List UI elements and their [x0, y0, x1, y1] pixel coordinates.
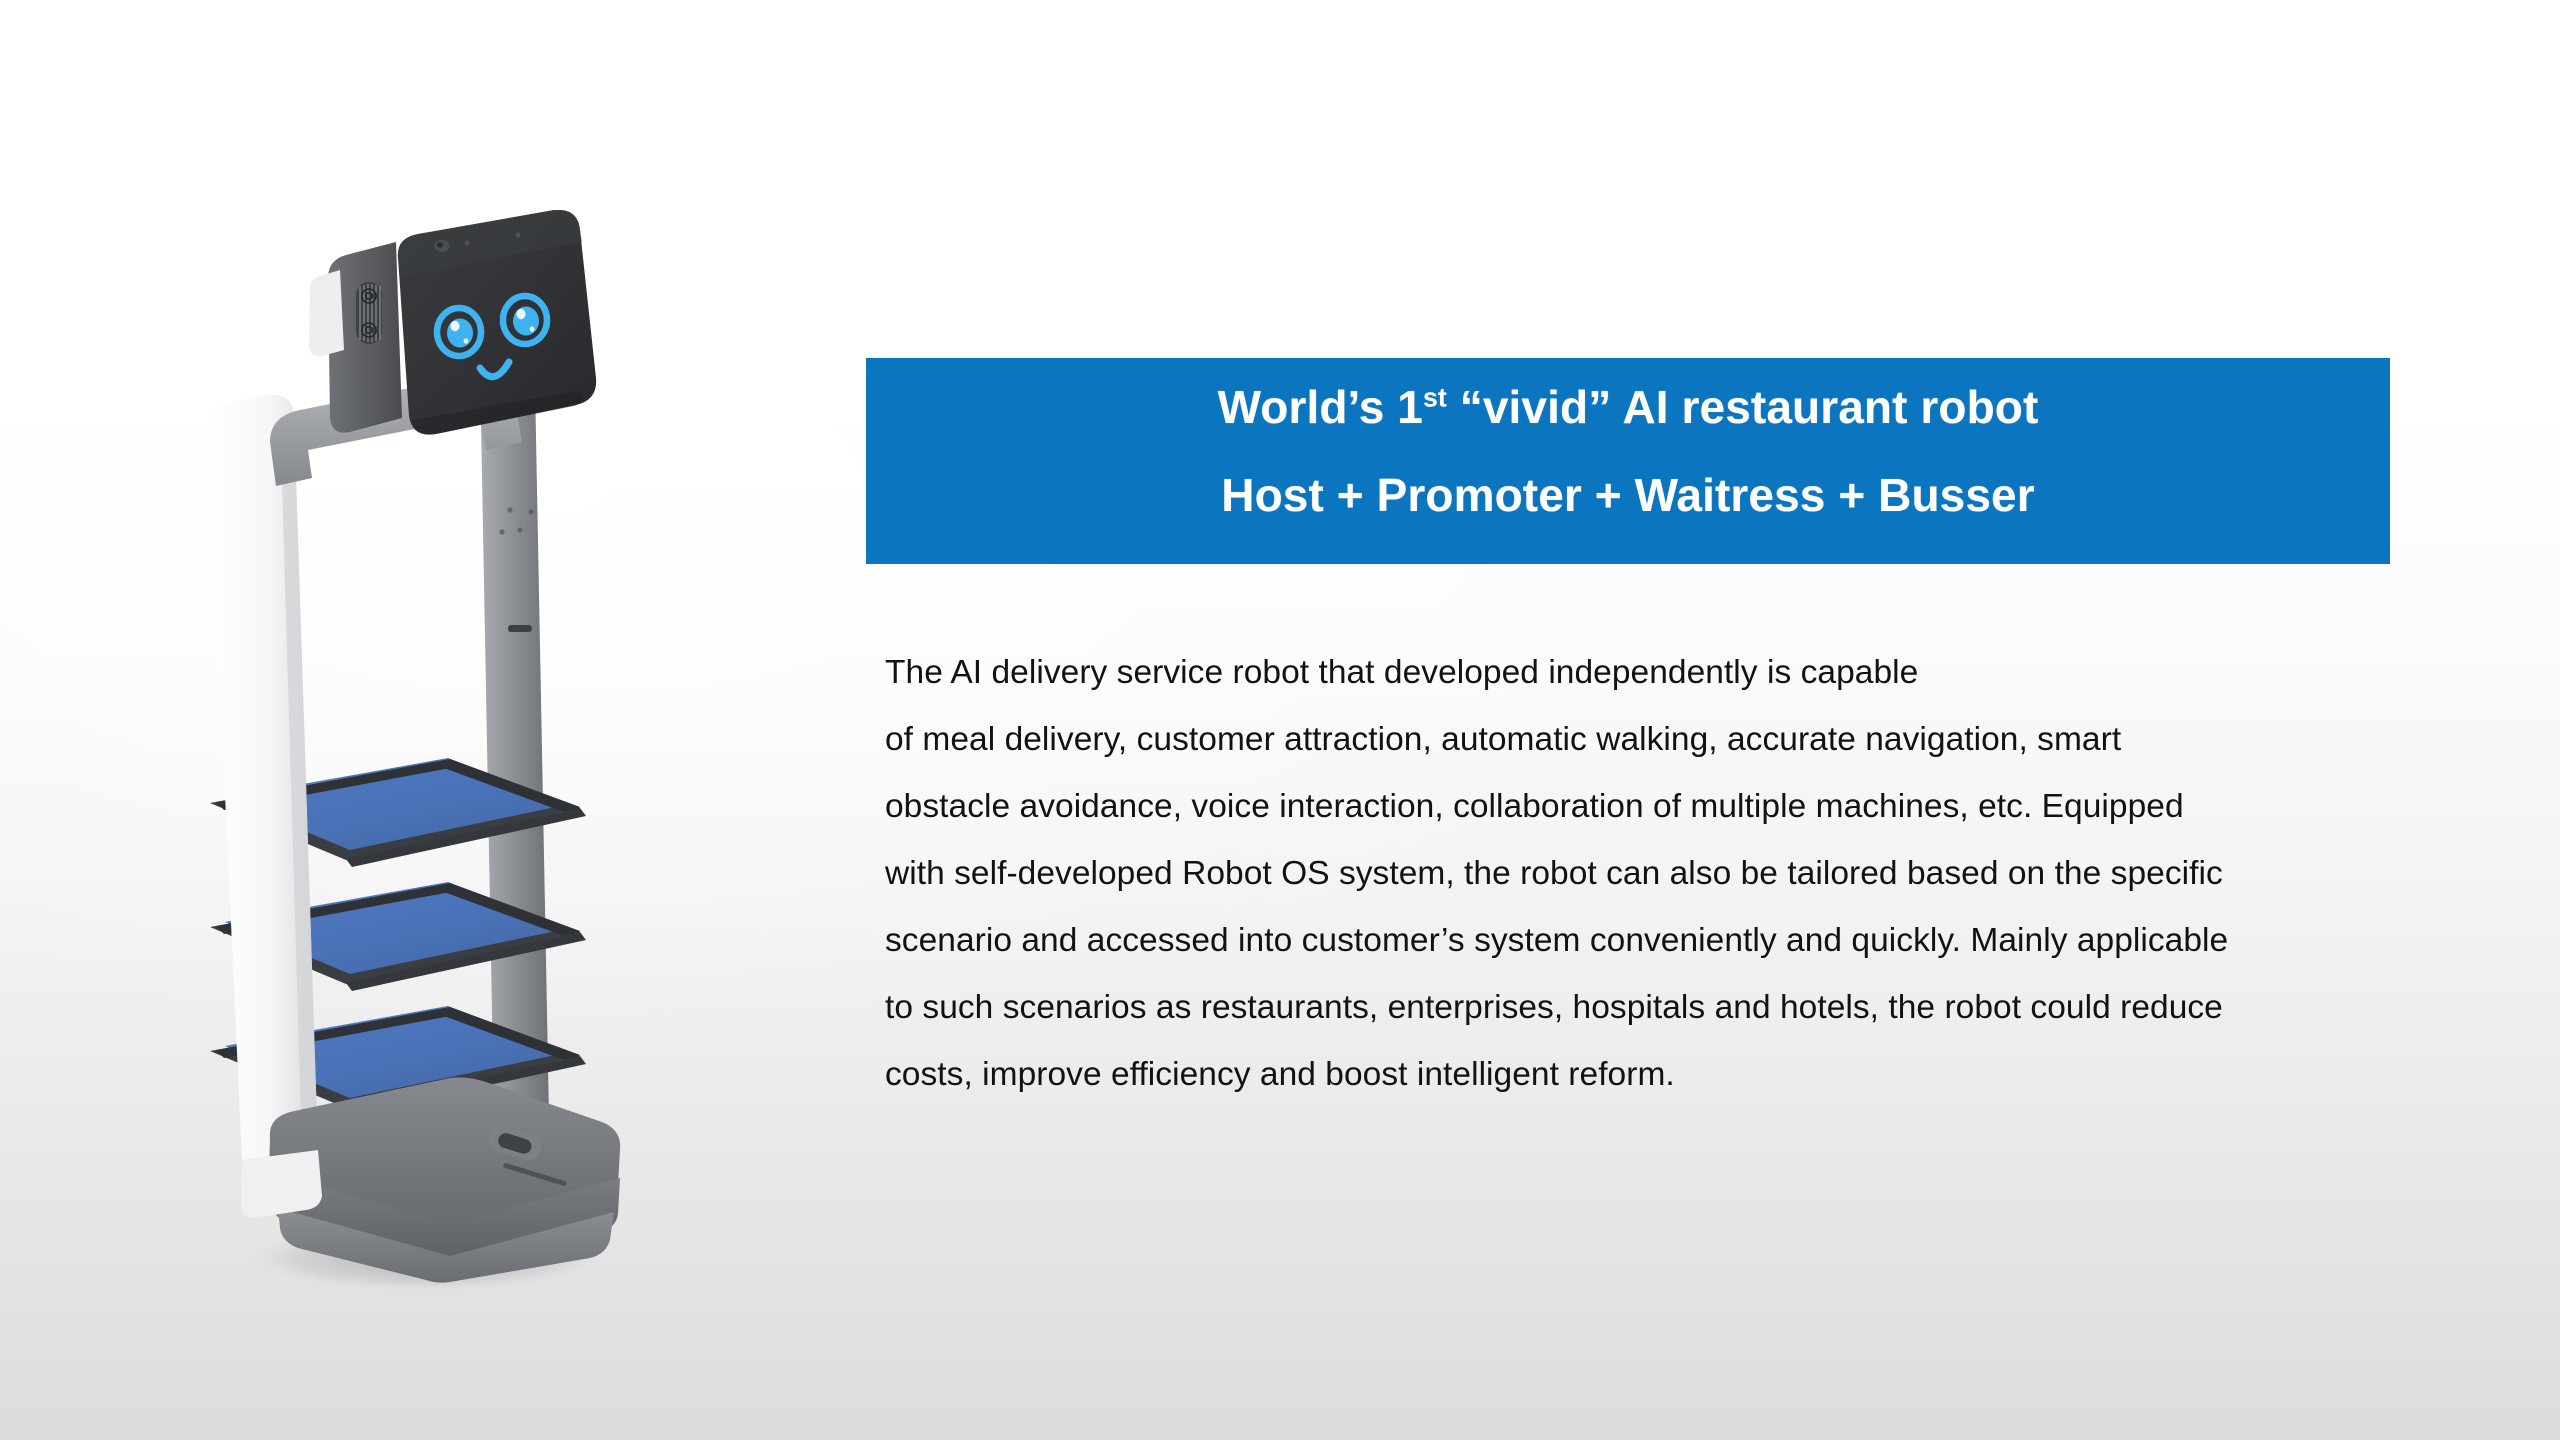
column-foot [241, 1150, 322, 1218]
headline-line-1-prefix: World’s 1 [1218, 381, 1423, 433]
robot-illustration [150, 210, 670, 1300]
description-paragraph: The AI delivery service robot that devel… [885, 639, 2385, 1108]
paragraph-line: scenario and accessed into customer’s sy… [885, 907, 2385, 974]
slide-canvas: World’s 1st “vivid” AI restaurant robot … [0, 0, 2560, 1440]
paragraph-line: to such scenarios as restaurants, enterp… [885, 974, 2385, 1041]
paragraph-line: obstacle avoidance, voice interaction, c… [885, 773, 2385, 840]
column-port [508, 625, 532, 632]
paragraph-line: of meal delivery, customer attraction, a… [885, 706, 2385, 773]
robot-head [309, 210, 596, 435]
headline-line-1: World’s 1st “vivid” AI restaurant robot [906, 384, 2350, 430]
sensor-dot-1 [464, 240, 469, 245]
paragraph-line: with self-developed Robot OS system, the… [885, 840, 2385, 907]
paragraph-line: The AI delivery service robot that devel… [885, 639, 2385, 706]
speaker-grille [356, 282, 382, 344]
headline-banner: World’s 1st “vivid” AI restaurant robot … [866, 358, 2390, 564]
headline-line-2: Host + Promoter + Waitress + Busser [906, 472, 2350, 518]
paragraph-line: costs, improve efficiency and boost inte… [885, 1041, 2385, 1108]
headline-ordinal-suffix: st [1423, 383, 1447, 413]
head-rear-stub [309, 270, 344, 356]
sensor-dot-2 [515, 232, 520, 237]
headline-line-1-suffix: “vivid” AI restaurant robot [1447, 381, 2039, 433]
content-column: World’s 1st “vivid” AI restaurant robot … [866, 358, 2390, 1108]
